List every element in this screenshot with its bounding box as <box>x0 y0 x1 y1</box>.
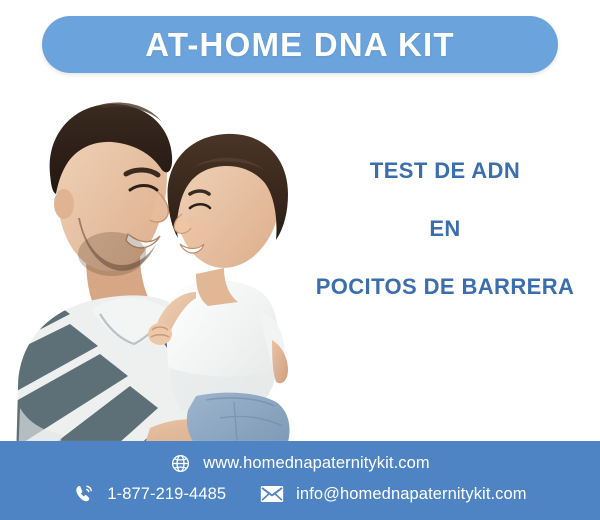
headline-line-1: TEST DE ADN <box>300 160 590 182</box>
headline-line-2: EN <box>300 218 590 240</box>
globe-icon <box>170 453 191 474</box>
phone-label: 1-877-219-4485 <box>107 486 226 503</box>
contact-footer: www.homednapaternitykit.com 1-877-219-44… <box>0 441 600 520</box>
footer-row-website: www.homednapaternitykit.com <box>0 453 600 474</box>
dna-kit-promo-card: AT-HOME DNA KIT <box>0 0 600 520</box>
website-contact-item[interactable]: www.homednapaternitykit.com <box>170 453 429 474</box>
headline-line-3: POCITOS DE BARRERA <box>300 276 590 298</box>
email-label: info@homednapaternitykit.com <box>296 486 527 503</box>
headline-block: TEST DE ADN EN POCITOS DE BARRERA <box>300 160 590 298</box>
footer-row-phone-email: 1-877-219-4485 info@homednapaternitykit.… <box>0 483 600 505</box>
page-title: AT-HOME DNA KIT <box>145 28 454 61</box>
phone-contact-item[interactable]: 1-877-219-4485 <box>73 483 226 505</box>
email-contact-item[interactable]: info@homednapaternitykit.com <box>260 485 527 503</box>
website-label: www.homednapaternitykit.com <box>203 455 429 472</box>
phone-icon <box>73 483 95 505</box>
envelope-icon <box>260 485 284 503</box>
father-holding-toddler-photo <box>0 78 330 458</box>
toddler-hand <box>148 323 172 345</box>
man-ear <box>54 189 74 219</box>
header-banner-pill: AT-HOME DNA KIT <box>42 16 558 73</box>
